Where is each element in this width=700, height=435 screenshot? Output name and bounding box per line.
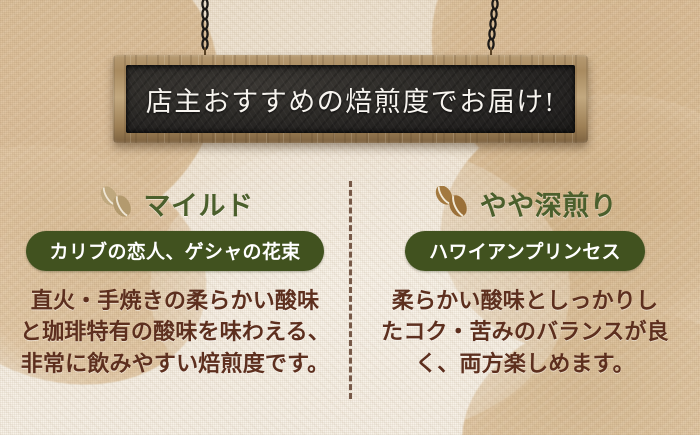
roast-heading: やや深煎り [433,182,618,224]
promo-banner: 店主おすすめの焙煎度でお届け! [0,0,700,435]
coffee-beans-icon [433,186,473,220]
roast-title: やや深煎り [480,184,618,223]
chalkboard: 店主おすすめの焙煎度でお届け! [126,65,575,133]
roast-title: マイルド [144,184,254,223]
hanging-sign: 店主おすすめの焙煎度でお届け! [113,55,588,143]
roast-comparison: マイルド カリブの恋人、ゲシャの花束 直火・手焼きの柔らかい酸味 と珈琲特有の酸… [0,182,700,407]
roast-column-mild: マイルド カリブの恋人、ゲシャの花束 直火・手焼きの柔らかい酸味 と珈琲特有の酸… [0,182,350,407]
roast-description: 直火・手焼きの柔らかい酸味 と珈琲特有の酸味を味わえる、 非常に飲みやすい焙煎度… [20,285,330,379]
description-line: く、両方楽しめます。 [381,348,669,379]
chain-icon [483,0,495,60]
status-badge: ハワイアンプリンセス [405,231,645,271]
column-divider [349,181,352,399]
page-title: 店主おすすめの焙煎度でお届け! [146,80,556,119]
description-line: 非常に飲みやすい焙煎度です。 [20,348,330,379]
description-line: 柔らかい酸味としっかりし [381,285,669,316]
chain-icon [199,0,211,60]
coffee-beans-icon [97,186,137,220]
description-line: たコク・苦みのバランスが良 [381,316,669,347]
roast-column-medium-dark: やや深煎り ハワイアンプリンセス 柔らかい酸味としっかりし たコク・苦みのバラン… [350,182,700,407]
roast-heading: マイルド [97,182,254,224]
description-line: 直火・手焼きの柔らかい酸味 [20,285,330,316]
roast-description: 柔らかい酸味としっかりし たコク・苦みのバランスが良 く、両方楽しめます。 [381,285,669,379]
description-line: と珈琲特有の酸味を味わえる、 [20,316,330,347]
status-badge: カリブの恋人、ゲシャの花束 [26,231,325,271]
